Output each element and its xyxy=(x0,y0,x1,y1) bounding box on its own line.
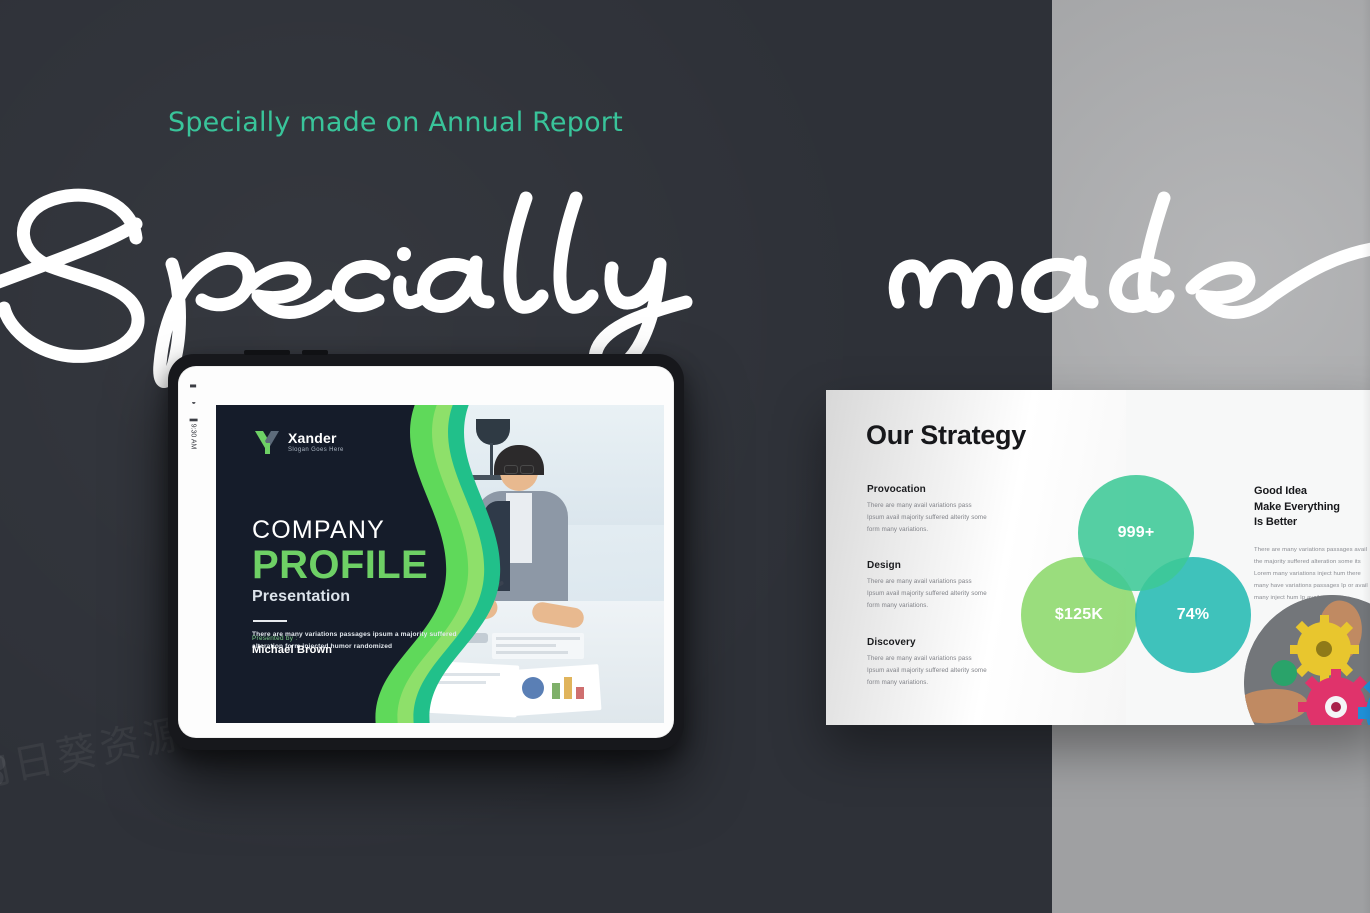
logo-slogan: Slogan Goes Here xyxy=(288,447,344,453)
logo-name: Xander xyxy=(288,431,344,446)
tablet-button-volume-down[interactable] xyxy=(302,350,328,355)
strategy-item-body: There are many avail variations pass Ips… xyxy=(867,576,989,612)
list-item: Provocation There are many avail variati… xyxy=(867,484,989,536)
right-heading-line-1: Good Idea xyxy=(1254,484,1370,500)
list-item: Design There are many avail variations p… xyxy=(867,560,989,612)
strategy-item-heading: Design xyxy=(867,560,989,571)
strategy-item-body: There are many avail variations pass Ips… xyxy=(867,653,989,689)
presenter-block: Presented by : Michael Brown xyxy=(252,635,332,656)
brand-logo: Xander Slogan Goes Here xyxy=(254,429,344,455)
slide-title-block: COMPANY PROFILE Presentation There are m… xyxy=(252,518,457,653)
venn-diagram: $125K 74% 999+ xyxy=(1021,475,1251,665)
venn-circle-999plus: 999+ xyxy=(1078,475,1194,591)
gears-photo xyxy=(1244,595,1370,725)
strategy-item-body: There are many avail variations pass Ips… xyxy=(867,500,989,536)
right-heading-line-3: Is Better xyxy=(1254,515,1370,531)
right-heading-line-2: Make Everything xyxy=(1254,500,1370,516)
strategy-title: Our Strategy xyxy=(866,420,1026,451)
page-tagline: Specially made on Annual Report xyxy=(168,107,623,138)
strategy-item-heading: Discovery xyxy=(867,637,989,648)
slide-company-label: COMPANY xyxy=(252,518,457,543)
tablet-device: ▮ ◗ ❚ 9:30 AM xyxy=(168,354,684,750)
title-divider xyxy=(253,620,287,622)
list-item: Discovery There are many avail variation… xyxy=(867,637,989,689)
status-bar-time: 9:30 AM xyxy=(190,424,197,450)
strategy-right-column: Good Idea Make Everything Is Better Ther… xyxy=(1254,484,1370,604)
presented-by-label: Presented by : xyxy=(252,635,332,642)
wifi-icon: ◗ xyxy=(189,401,197,406)
signal-icon: ❚ xyxy=(189,417,197,424)
battery-icon: ▮ xyxy=(189,384,197,388)
status-bar: ▮ ◗ ❚ 9:30 AM xyxy=(178,372,208,732)
logo-mark-icon xyxy=(254,429,280,455)
right-edge-shade xyxy=(1362,0,1370,913)
slide-our-strategy[interactable]: Our Strategy Provocation There are many … xyxy=(826,390,1370,725)
slide-main-title: PROFILE xyxy=(252,545,457,586)
script-headline xyxy=(0,168,1370,378)
slide-subtitle: Presentation xyxy=(252,588,457,606)
strategy-items-column: Provocation There are many avail variati… xyxy=(867,484,989,713)
strategy-item-heading: Provocation xyxy=(867,484,989,495)
tablet-screen: ▮ ◗ ❚ 9:30 AM xyxy=(178,366,674,738)
presenter-name: Michael Brown xyxy=(252,644,332,656)
poster-canvas: 向日葵资源站 ✿ www.78sun.cn 向日葵资源站 ✿ www.78sun… xyxy=(0,0,1370,913)
tablet-button-volume-up[interactable] xyxy=(244,350,290,355)
slide-company-profile[interactable]: Xander Slogan Goes Here COMPANY PROFILE … xyxy=(216,405,664,723)
